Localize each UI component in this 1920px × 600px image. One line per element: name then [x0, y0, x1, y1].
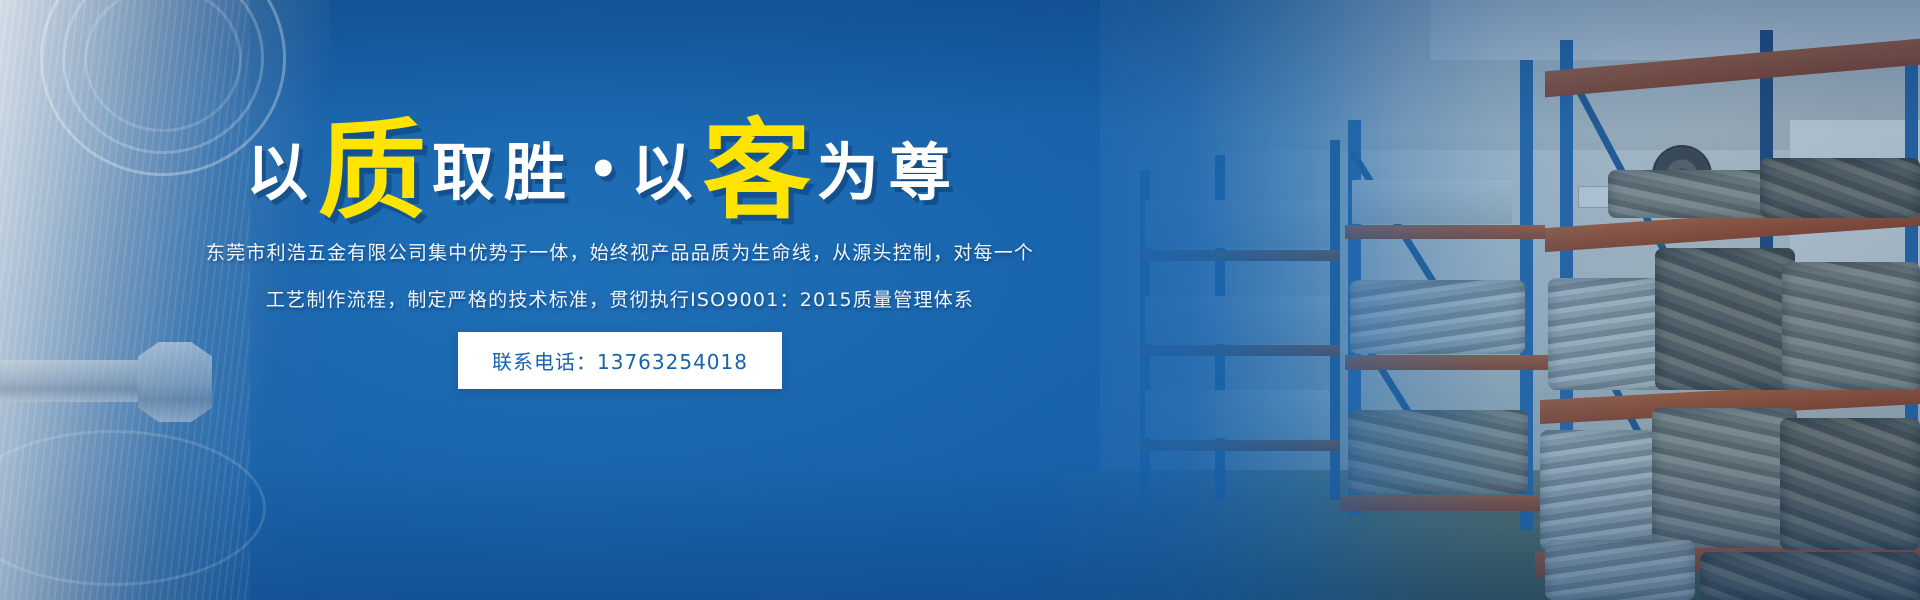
- headline-part-7: 为尊: [817, 142, 961, 204]
- headline-part-5: 以: [631, 142, 703, 204]
- promo-banner: 以质取胜•以客为尊 东莞市利浩五金有限公司集中优势于一体，始终视产品品质为生命线…: [0, 0, 1920, 600]
- headline: 以质取胜•以客为尊: [0, 104, 1920, 212]
- cta-container: 联系电话：13763254018: [0, 332, 1240, 389]
- banner-content: 以质取胜•以客为尊 东莞市利浩五金有限公司集中优势于一体，始终视产品品质为生命线…: [0, 0, 1920, 600]
- headline-part-1: 以: [246, 142, 318, 204]
- headline-part-2-emphasis: 质: [318, 118, 432, 226]
- headline-separator-dot: •: [576, 146, 631, 194]
- headline-part-6-emphasis: 客: [703, 118, 817, 226]
- subtitle-line-2: 工艺制作流程，制定严格的技术标准，贯彻执行ISO9001：2015质量管理体系: [0, 285, 1240, 312]
- subtitle-line-1: 东莞市利浩五金有限公司集中优势于一体，始终视产品品质为生命线，从源头控制，对每一…: [0, 238, 1240, 265]
- contact-phone-button[interactable]: 联系电话：13763254018: [458, 332, 782, 389]
- headline-part-3: 取胜: [432, 142, 576, 204]
